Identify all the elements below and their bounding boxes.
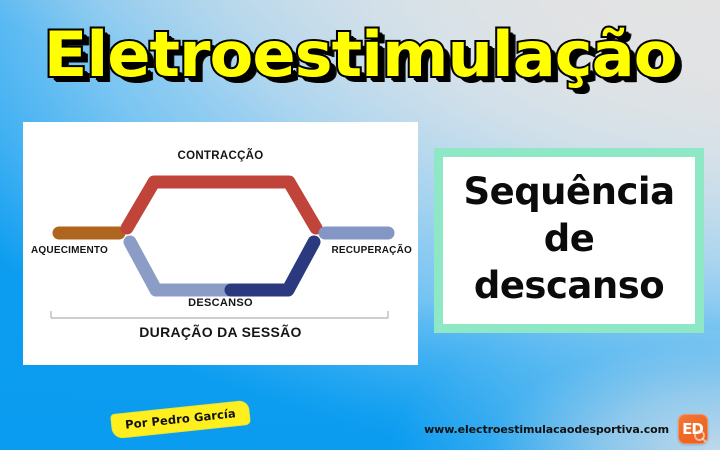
label-recuperacao: RECUPERAÇÃO xyxy=(331,245,412,256)
brand-logo-icon[interactable]: ED xyxy=(678,414,708,444)
label-duracao-da-sessao: DURAÇÃO DA SESSÃO xyxy=(23,324,418,340)
segment-contraccao xyxy=(127,182,316,228)
callout-line-2: de xyxy=(544,215,595,262)
callout-panel-inner: Sequência de descanso xyxy=(443,157,695,324)
duration-bracket xyxy=(51,311,388,318)
callout-line-3: descanso xyxy=(474,262,664,309)
callout-panel: Sequência de descanso xyxy=(434,148,704,333)
magnifier-icon xyxy=(694,430,705,441)
footer: www.electroestimulacaodesportiva.com ED xyxy=(424,414,708,444)
page-title: Eletroestimulação xyxy=(44,22,677,88)
callout-line-1: Sequência xyxy=(463,168,674,215)
segment-descanso-right xyxy=(231,242,314,290)
segment-descanso-left xyxy=(130,242,238,290)
session-phase-diagram: CONTRACÇÃO DESCANSO AQUECIMENTO RECUPERA… xyxy=(23,122,418,365)
slide-canvas: Eletroestimulação xyxy=(0,0,720,450)
diagram-card: CONTRACÇÃO DESCANSO AQUECIMENTO RECUPERA… xyxy=(23,122,418,365)
label-descanso: DESCANSO xyxy=(23,297,418,309)
label-aquecimento: AQUECIMENTO xyxy=(31,245,108,256)
label-contraccao: CONTRACÇÃO xyxy=(23,150,418,162)
title-container: Eletroestimulação xyxy=(0,22,720,88)
website-url[interactable]: www.electroestimulacaodesportiva.com xyxy=(424,423,669,436)
